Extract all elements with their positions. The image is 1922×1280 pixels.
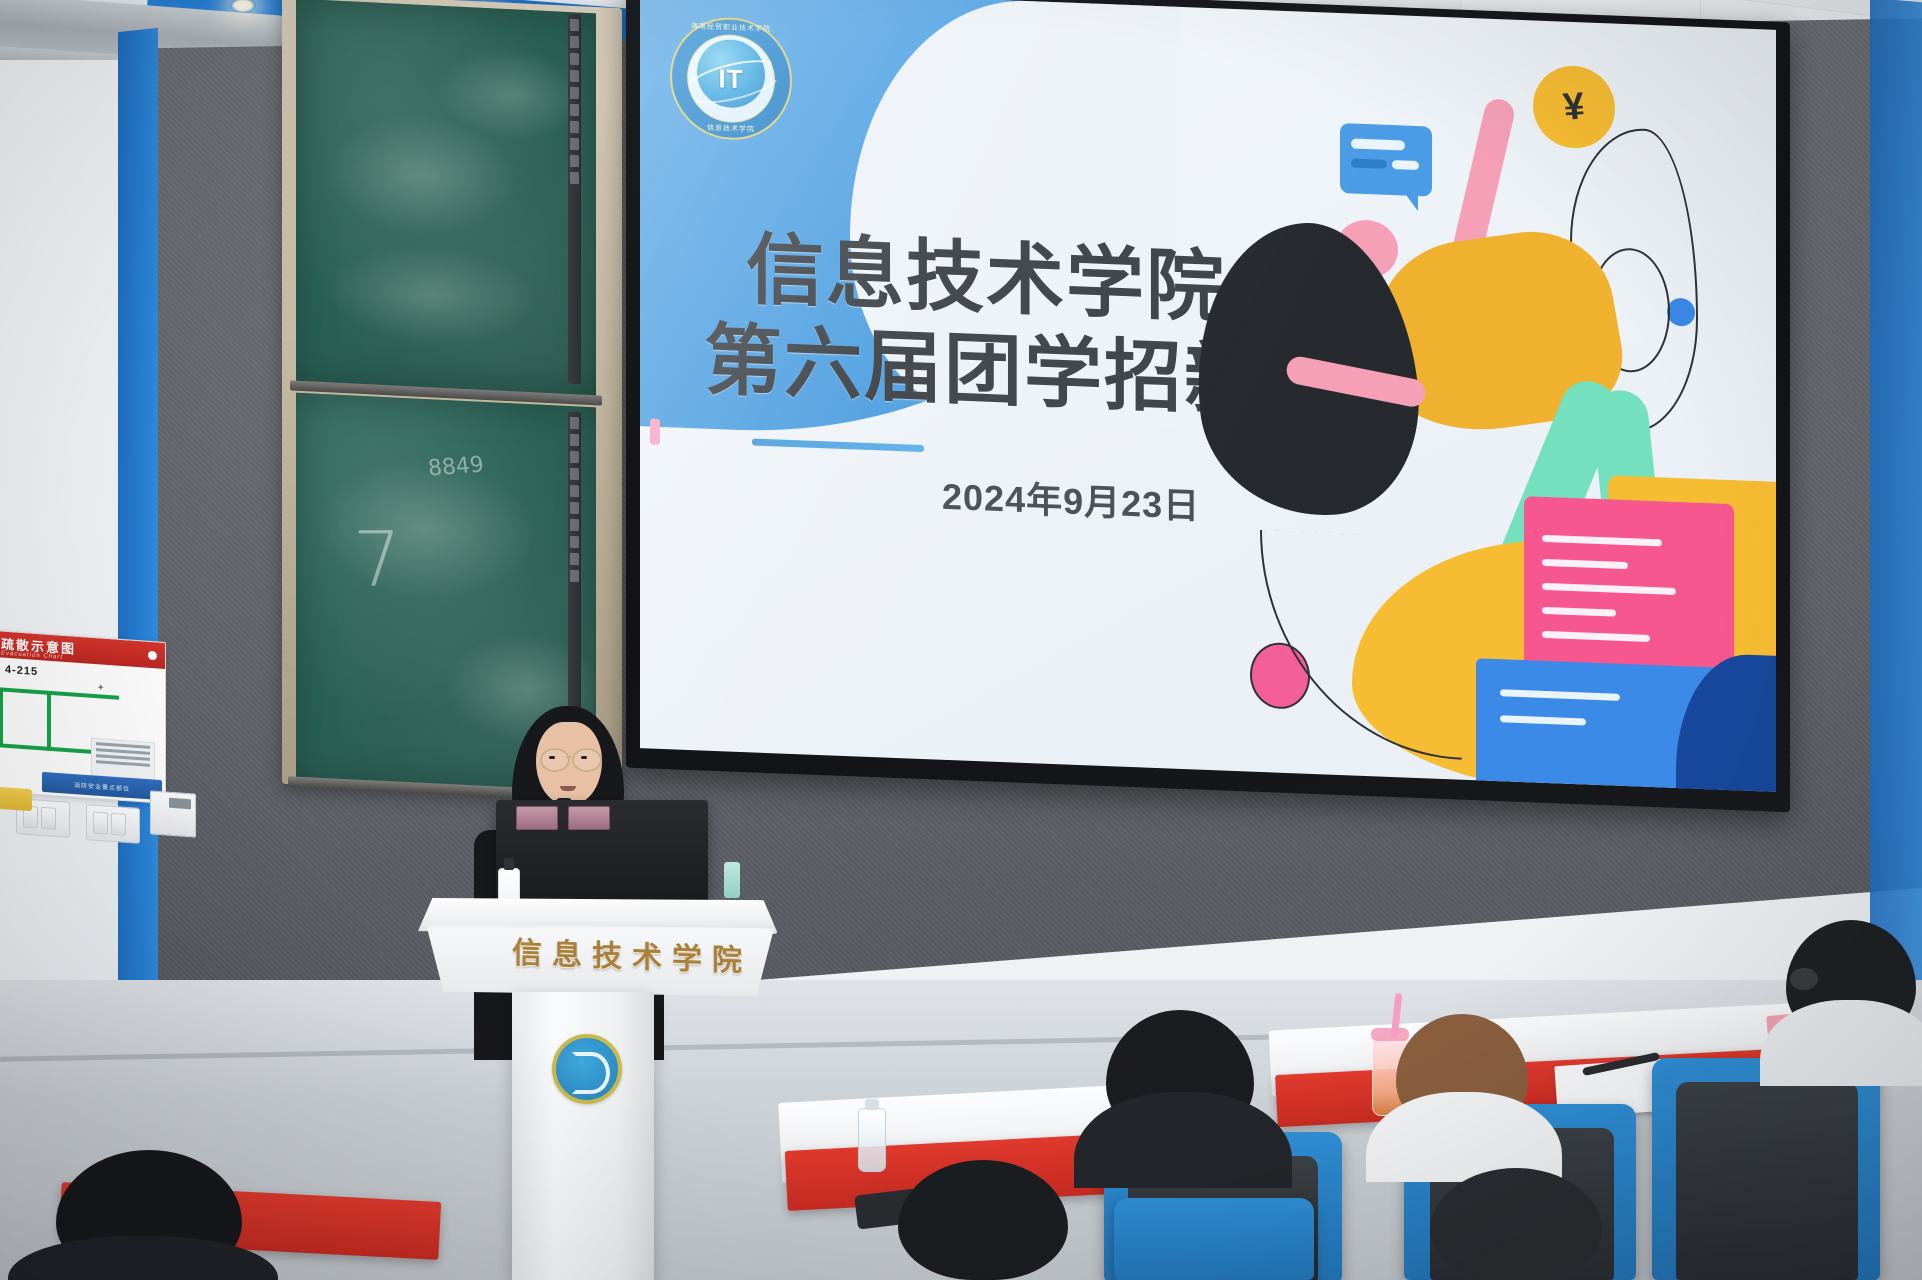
slide-pink-tick: [650, 419, 660, 445]
podium-label: 信息技术学院: [512, 928, 752, 980]
board-side-controls[interactable]: [568, 14, 581, 385]
evac-room-number: 4-215: [5, 664, 38, 678]
chalk-writing: 7: [352, 515, 405, 604]
curve-stroke-decor: [1260, 530, 1462, 760]
speech-card-icon: [1340, 123, 1432, 197]
emblem-center-text: IT: [670, 62, 792, 98]
audience-glasses: [1790, 968, 1818, 990]
green-cup[interactable]: [724, 862, 740, 898]
panel-display: [169, 798, 191, 810]
presenter-glasses-right: [572, 748, 602, 772]
coin-symbol: ¥: [1529, 63, 1619, 150]
compass-icon: ✦: [97, 682, 105, 694]
audience-seat: [1114, 1198, 1314, 1280]
wall-accent-strip: [118, 28, 158, 1032]
slide-title-line1: 信息技术学院: [746, 226, 1226, 332]
water-bottle[interactable]: [858, 1108, 886, 1172]
chalk-smudge: [316, 454, 536, 605]
coin-icon: ¥: [1533, 64, 1615, 149]
presentation-slide: 海南经贸职业技术学院 IT 信息技术学院 信息技术学院 第六届团学招新 2024…: [640, 0, 1776, 792]
blackboard-upper: [296, 0, 596, 398]
chalk-writing: 8849: [427, 452, 486, 481]
classroom-photo-scene: 疏散示意图 Evacuation Chart 4-215 ✦ 消防安全重点部位 …: [0, 0, 1922, 1280]
evac-legend: [91, 738, 155, 780]
evac-route: [47, 691, 51, 751]
chalk-smudge: [326, 240, 536, 350]
evac-marker-icon: [148, 651, 157, 661]
presenter-eye: [581, 756, 587, 759]
monitor-asset-label: [568, 806, 610, 830]
presenter-glasses-left: [540, 748, 570, 772]
wall-control-panel[interactable]: [150, 790, 196, 837]
slide-date: 2024年9月23日: [942, 468, 1200, 530]
slide-accent-rule: [752, 438, 924, 452]
warning-sign: [0, 787, 32, 812]
monitor-asset-label: [516, 806, 558, 830]
wall-accent-strip: [1870, 0, 1922, 1002]
evac-route: [0, 718, 3, 724]
presenter-eye: [549, 756, 555, 759]
audience-seat-back: [1676, 1082, 1858, 1280]
light-switch-plate[interactable]: [86, 804, 140, 844]
presenter-mouth: [560, 786, 576, 791]
school-crest-icon: [552, 1034, 622, 1104]
presenter-glasses-bridge: [566, 756, 572, 758]
evac-route: [0, 687, 3, 745]
